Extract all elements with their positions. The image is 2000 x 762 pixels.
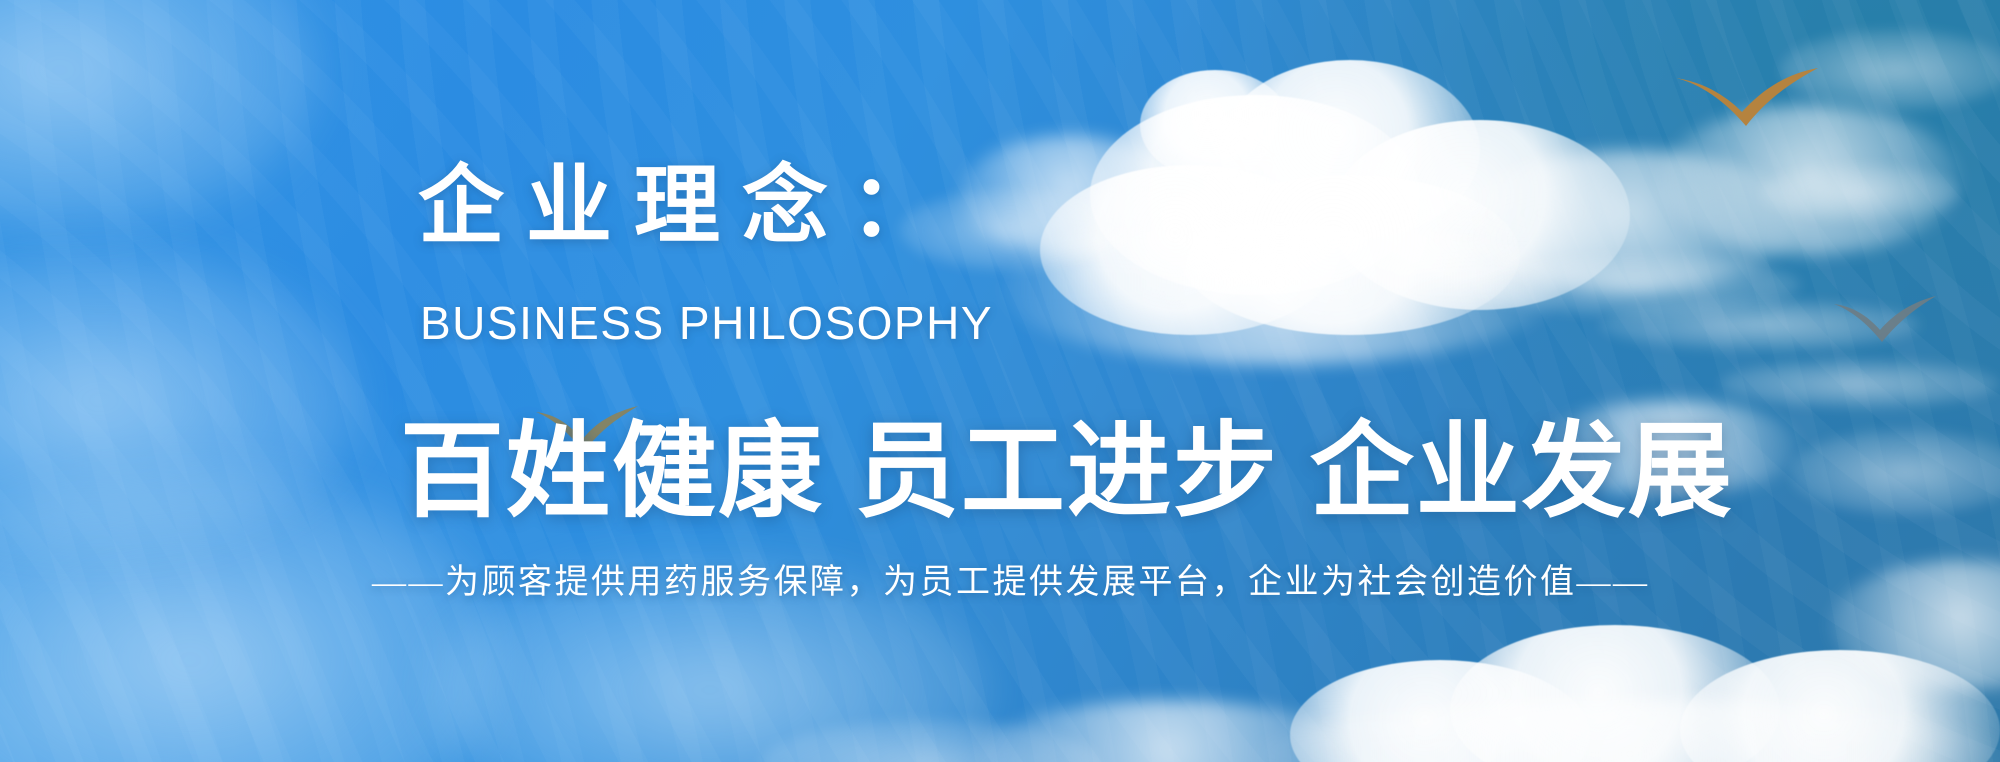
business-philosophy-banner: 企业理念： BUSINESS PHILOSOPHY 百姓健康 员工进步 企业发展… bbox=[0, 0, 2000, 762]
banner-content: 企业理念： BUSINESS PHILOSOPHY 百姓健康 员工进步 企业发展… bbox=[0, 0, 2000, 762]
page-title-chinese: 企业理念： bbox=[418, 163, 958, 249]
tagline: ——为顾客提供用药服务保障，为员工提供发展平台，企业为社会创造价值—— bbox=[372, 566, 1650, 600]
page-title-english: BUSINESS PHILOSOPHY bbox=[420, 300, 993, 346]
main-headline: 百姓健康 员工进步 企业发展 bbox=[400, 420, 1734, 524]
